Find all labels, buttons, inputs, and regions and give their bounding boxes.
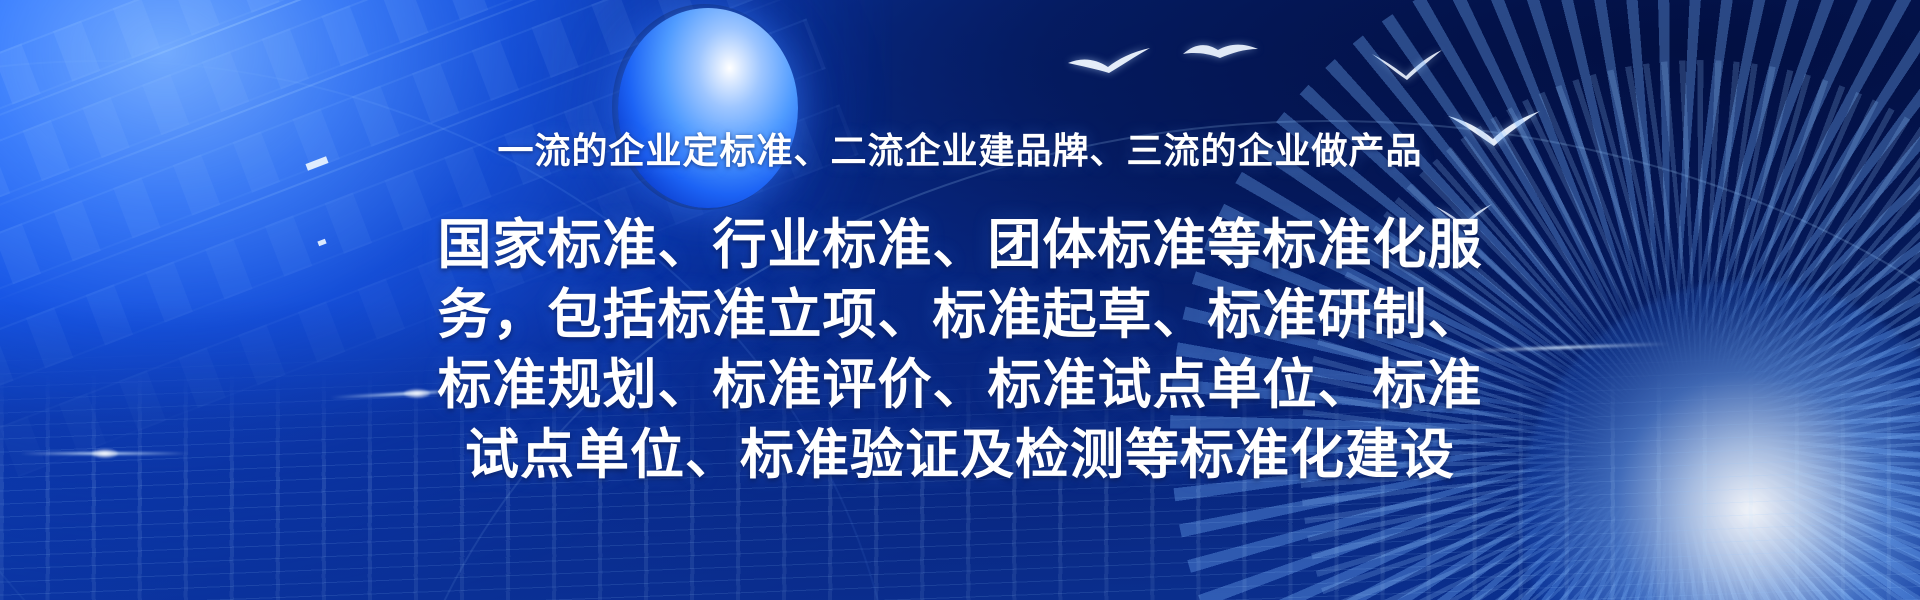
sphere-body	[618, 8, 798, 208]
lens-flare-dot	[92, 449, 118, 458]
seagull-icon	[1066, 46, 1152, 80]
glowing-sphere	[618, 8, 798, 208]
tech-dash-pattern	[0, 370, 1920, 600]
promo-banner: 一流的企业定标准、二流企业建品牌、三流的企业做产品 国家标准、行业标准、团体标准…	[0, 0, 1920, 600]
seagull-icon	[1182, 40, 1260, 68]
lens-flare-dot	[404, 389, 430, 398]
